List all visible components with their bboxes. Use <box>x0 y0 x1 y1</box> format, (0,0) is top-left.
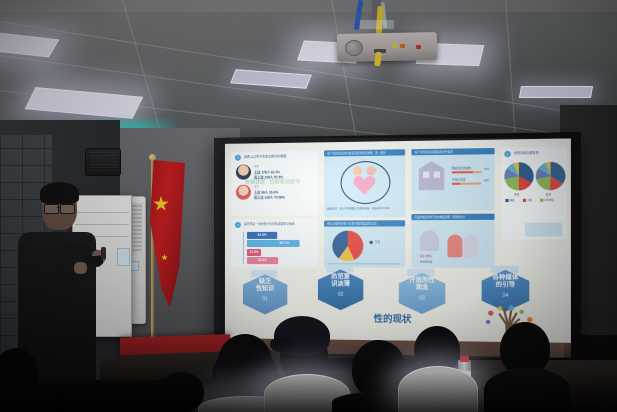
ceiling-light-1 <box>0 33 59 58</box>
projector-port-3 <box>416 45 421 49</box>
ceiling-light-2 <box>25 87 143 119</box>
presenter-glasses-left <box>44 204 59 214</box>
presenter-wristband <box>101 247 106 259</box>
screenshot-root: 2 是否上过关于性安全教育的课程 男生 上过 178人 42.3% 没上过 23… <box>0 0 617 412</box>
ceiling-light-6 <box>519 86 593 98</box>
projector-lens <box>345 40 363 56</box>
hexagon-01-line2: 性知识 <box>256 286 274 292</box>
hexagon-04-line1: 各种媒体 <box>492 275 518 281</box>
presenter-glasses-right <box>60 204 75 214</box>
projector-ceiling-plate <box>360 20 394 29</box>
flag-star-small <box>161 254 168 261</box>
hexagon-02-line1: 防范意 <box>331 274 350 280</box>
presenter-hand-left <box>74 262 87 274</box>
cabinet-label <box>117 248 130 266</box>
slide-title: 性的现状 <box>374 311 412 325</box>
hexagon-04-number: 04 <box>502 293 508 299</box>
hexagon-03-line2: 观念 <box>416 285 429 291</box>
hexagon-03-line1: 开放的性 <box>409 278 434 284</box>
presenter-hair <box>40 182 79 204</box>
wall-speaker <box>85 148 121 176</box>
hexagon-01-line1: 缺乏 <box>259 279 271 285</box>
audience-shoulder-5 <box>484 368 570 412</box>
projector-cable-yellow-lower <box>374 52 382 67</box>
audience-shoulder-4 <box>398 366 478 412</box>
audience-shoulder-6 <box>0 386 56 412</box>
projector-port-1 <box>392 44 397 48</box>
hexagon-03-number: 03 <box>419 295 425 301</box>
audience-cap-brim <box>270 338 294 352</box>
hexagon-01[interactable]: 缺乏 性知识 01 <box>243 274 287 315</box>
hexagon-01-number: 01 <box>262 296 268 302</box>
hexagon-03[interactable]: 开放的性 观念 03 <box>399 273 445 315</box>
hexagon-04-line2: 的引导 <box>496 282 515 288</box>
flag-star-large <box>153 196 169 212</box>
audience-head-7 <box>160 372 204 412</box>
hexagon-02-line2: 识淡薄 <box>331 282 350 288</box>
projector-port-2 <box>400 44 405 48</box>
hexagon-02[interactable]: 防范意 识淡薄 02 <box>318 269 363 310</box>
bottle-cap <box>460 356 469 362</box>
ceiling-light-3 <box>230 69 312 88</box>
hexagon-02-number: 02 <box>338 292 344 298</box>
flag-finial <box>149 154 156 161</box>
